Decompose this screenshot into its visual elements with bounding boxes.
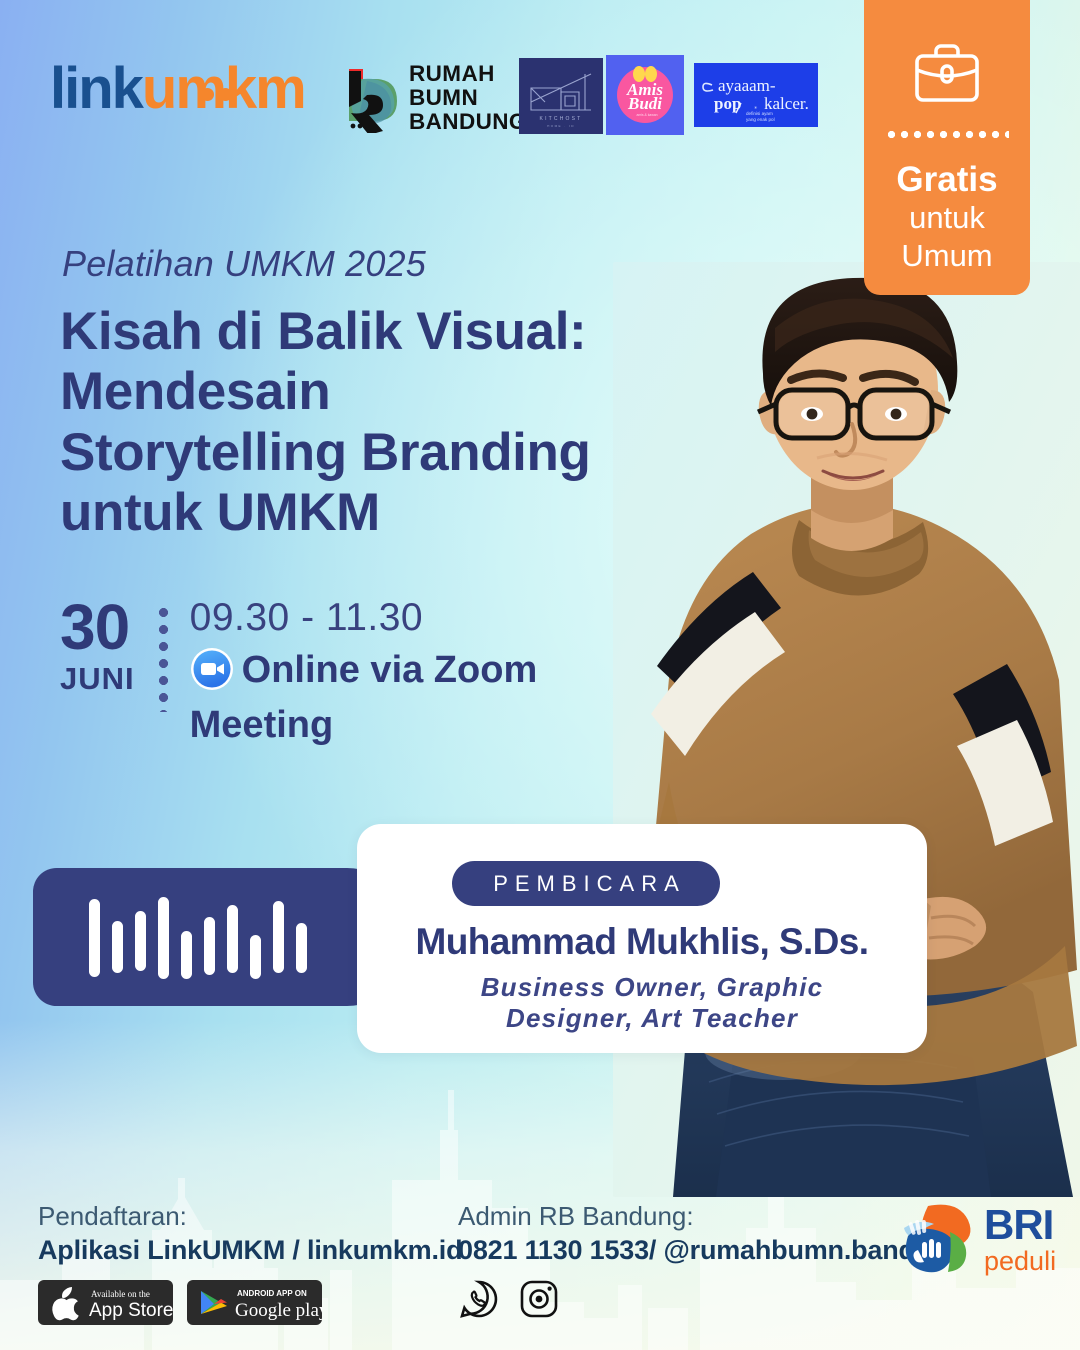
app-store-badges: Available on the App Store ANDROID APP O… bbox=[38, 1280, 462, 1330]
speaker-card: PEMBICARA Muhammad Mukhlis, S.Ds. Busine… bbox=[357, 824, 927, 1053]
badge-line-untuk: untuk bbox=[909, 199, 985, 237]
title-line-3: Storytelling Branding bbox=[60, 423, 700, 483]
title-line-2: Mendesain bbox=[60, 362, 700, 422]
bri-sub-text: peduli bbox=[984, 1248, 1056, 1275]
kitchost-wordmark: KITCHOST bbox=[540, 116, 583, 122]
app-store-big: App Store bbox=[89, 1300, 173, 1321]
svg-text:✳: ✳ bbox=[754, 105, 758, 110]
speaker-role-line1: Business Owner, Graphic bbox=[417, 972, 887, 1003]
rumah-bumn-line1: RUMAH bbox=[409, 62, 527, 86]
free-admission-badge: Gratis untuk Umum bbox=[864, 0, 1030, 295]
speaker-name: Muhammad Mukhlis, S.Ds. bbox=[357, 921, 927, 963]
rumah-bumn-line2: BUMN bbox=[409, 86, 527, 110]
title-line-4: untuk UMKM bbox=[60, 483, 700, 543]
partner-logo-amis-budi: Amis Budi amis & kawan bbox=[606, 55, 684, 135]
title-line-1: Kisah di Balik Visual: bbox=[60, 302, 700, 362]
partner-logo-kitchost: KITCHOST HOME · ID bbox=[519, 58, 603, 134]
app-store-small: Available on the bbox=[91, 1289, 150, 1299]
partner-logo-ayaaam-pop-kalcer: ayaaam- pop ✳ kalcer. definisi ayam yang… bbox=[694, 63, 818, 127]
rumah-bumn-mark-icon bbox=[343, 63, 399, 133]
google-play-button[interactable]: ANDROID APP ON Google play bbox=[187, 1280, 322, 1330]
rumah-bumn-wordmark: RUMAH BUMN BANDUNG bbox=[409, 62, 527, 134]
admin-contact-block: Admin RB Bandung: 0821 1130 1533/ @rumah… bbox=[458, 1200, 964, 1325]
event-date: 30 JUNI bbox=[60, 598, 135, 749]
svg-text:amis & kawan: amis & kawan bbox=[636, 113, 657, 117]
vertical-dotted-divider bbox=[159, 604, 168, 712]
registration-value: Aplikasi LinkUMKM / linkumkm.id bbox=[38, 1233, 462, 1268]
google-play-small: ANDROID APP ON bbox=[237, 1289, 307, 1298]
instagram-icon[interactable] bbox=[518, 1278, 560, 1325]
event-platform: Online via Zoom Meeting bbox=[190, 647, 590, 749]
footer: Pendaftaran: Aplikasi LinkUMKM / linkumk… bbox=[0, 1190, 1080, 1350]
whatsapp-icon[interactable] bbox=[458, 1278, 500, 1325]
ayam-sub2: yang enak pol bbox=[746, 117, 775, 122]
social-icons bbox=[458, 1278, 964, 1325]
speaker-role: Business Owner, Graphic Designer, Art Te… bbox=[417, 972, 887, 1034]
ayam-sub1: definisi ayam bbox=[746, 111, 773, 116]
event-kicker: Pelatihan UMKM 2025 bbox=[62, 243, 426, 285]
registration-block: Pendaftaran: Aplikasi LinkUMKM / linkumk… bbox=[38, 1200, 462, 1330]
briefcase-icon bbox=[914, 42, 980, 109]
registration-label: Pendaftaran: bbox=[38, 1200, 462, 1233]
amis-budi-line2: Budi bbox=[627, 94, 662, 113]
badge-line-umum: Umum bbox=[901, 237, 992, 275]
rumah-bumn-logo: RUMAH BUMN BANDUNG bbox=[343, 62, 527, 134]
linkumkm-logo-dots bbox=[201, 53, 237, 111]
bri-peduli-mark-icon bbox=[898, 1200, 976, 1279]
bri-peduli-wordmark: BRI peduli bbox=[984, 1204, 1056, 1275]
event-date-time-block: 30 JUNI 09.30 - 11.30 Online via Zoom Me… bbox=[60, 598, 590, 749]
admin-label: Admin RB Bandung: bbox=[458, 1200, 964, 1233]
svg-text:HOME · ID: HOME · ID bbox=[547, 124, 575, 128]
page-title: Kisah di Balik Visual: Mendesain Storyte… bbox=[60, 302, 700, 544]
soundwave-icon bbox=[89, 893, 339, 983]
bri-main-text: BRI bbox=[984, 1204, 1056, 1246]
speaker-label-badge: PEMBICARA bbox=[452, 861, 720, 906]
bri-peduli-logo: BRI peduli bbox=[898, 1200, 1056, 1279]
badge-dotted-divider bbox=[885, 131, 1009, 138]
event-platform-text: Online via Zoom Meeting bbox=[190, 649, 538, 746]
event-month: JUNI bbox=[60, 661, 135, 697]
rumah-bumn-line3: BANDUNG bbox=[409, 110, 527, 134]
event-time: 09.30 - 11.30 bbox=[190, 598, 590, 639]
google-play-big: Google play bbox=[235, 1300, 322, 1321]
ayam-line1: ayaaam- bbox=[718, 76, 776, 95]
badge-line-gratis: Gratis bbox=[896, 162, 997, 199]
linkumkm-logo: linkumkm bbox=[50, 60, 305, 118]
event-day: 30 bbox=[60, 598, 135, 657]
app-store-button[interactable]: Available on the App Store bbox=[38, 1280, 173, 1330]
linkumkm-logo-link: link bbox=[50, 56, 142, 121]
admin-value: 0821 1130 1533/ @rumahbumn.bandung bbox=[458, 1233, 964, 1268]
event-time-place: 09.30 - 11.30 Online via Zoom Meeting bbox=[190, 598, 590, 749]
speaker-role-line2: Designer, Art Teacher bbox=[417, 1003, 887, 1034]
zoom-icon bbox=[190, 647, 234, 702]
